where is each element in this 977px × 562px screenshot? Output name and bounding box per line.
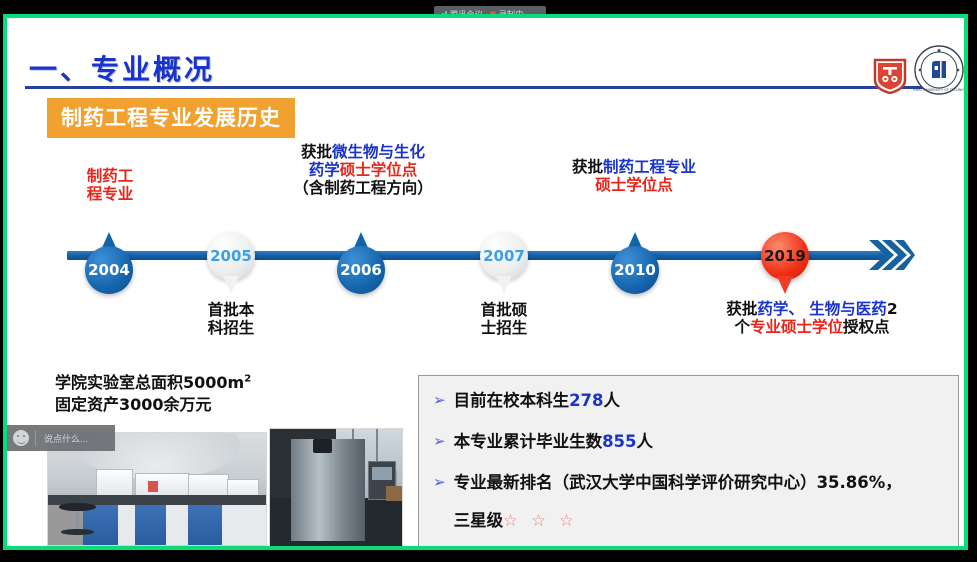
stat-1-value: 855 (602, 432, 636, 451)
stat-2-rating-label: 三星级 (454, 511, 504, 530)
title-divider (25, 86, 935, 89)
stat-row: ➢ 本专业累计毕业生数855人 (419, 430, 958, 455)
timeline-event-2019-d: 个 (734, 318, 750, 336)
timeline-pin-2005[interactable]: 2005 (207, 232, 255, 294)
timeline-event-2006: 获批微生物与生化 药学硕士学位点 （含制药工程方向） (257, 144, 469, 198)
lab-assets-text: 固定资产3000余万元 (55, 394, 251, 416)
timeline-pin-2019[interactable]: 2019 (761, 232, 809, 294)
timeline-event-2007: 首批硕 士招生 (448, 301, 560, 338)
timeline-event-2010-b: 制药工程专业 (603, 158, 696, 176)
timeline-event-2005-line2: 科招生 (175, 319, 287, 337)
stat-1-label: 本专业累计毕业生数 (454, 432, 603, 451)
timeline-event-2004: 制药工 程专业 (62, 168, 158, 204)
stat-row: ➢ 目前在校本科生278人 (419, 389, 958, 414)
timeline-pin-2004-label: 2004 (85, 246, 133, 294)
timeline-pin-2007[interactable]: 2007 (480, 232, 528, 294)
timeline-event-2019-a: 获批 (726, 300, 757, 318)
chat-placeholder-text[interactable]: 说点什么... (36, 432, 88, 445)
bullet-arrow-icon: ➢ (433, 389, 446, 408)
timeline-event-2005: 首批本 科招生 (175, 301, 287, 338)
presentation-slide: 一、专业概况 制药工程专业发展历史 (7, 18, 964, 546)
timeline-event-2019-f: 授权点 (843, 318, 890, 336)
timeline-pin-2006-label: 2006 (337, 246, 385, 294)
meeting-screen: 腾讯会议 录制中 正在讲话: 赵小亮-兰州理工大学; 一、专业概况 制药工程专业… (0, 0, 977, 562)
timeline-event-2004-line1: 制药工 (62, 168, 158, 186)
stat-1-unit: 人 (637, 432, 654, 451)
timeline-pin-2007-label: 2007 (480, 232, 528, 280)
lab-area-text: 学院实验室总面积5000m (55, 373, 244, 392)
timeline-pin-2006[interactable]: 2006 (337, 232, 385, 294)
timeline-pin-2010-label: 2010 (611, 246, 659, 294)
timeline-event-2006-a: 获批 (301, 143, 332, 161)
timeline-event-2019: 获批药学、 生物与医药2 个专业硕士学位授权点 (662, 301, 962, 337)
svg-text:LANZHOU UNIVERSITY OF TECHNOLO: LANZHOU UNIVERSITY OF TECHNOLOGY (913, 88, 964, 92)
timeline-event-2019-c: 2 (887, 300, 898, 318)
timeline-event-2019-b: 药学、 生物与医药 (757, 300, 886, 318)
stat-0-label: 目前在校本科生 (454, 391, 570, 410)
timeline-event-2006-b: 微生物与生化 (332, 143, 425, 161)
screen-share-frame: 一、专业概况 制药工程专业发展历史 (3, 14, 968, 550)
timeline-arrow-icon (869, 234, 915, 276)
timeline-event-2006-e: （含制药工程方向） (257, 180, 469, 198)
university-seal-logo: LANZHOU UNIVERSITY OF TECHNOLOGY (913, 44, 964, 96)
timeline-event-2010-c: 硕士学位点 (525, 177, 743, 195)
timeline-event-2010: 获批制药工程专业 硕士学位点 (525, 159, 743, 195)
stat-row: ➢ 专业最新排名（武汉大学中国科学评价研究中心）35.86%， 三星级☆ ☆ ☆ (419, 471, 958, 535)
timeline-event-2005-line1: 首批本 (175, 301, 287, 319)
stat-0-value: 278 (569, 391, 603, 410)
stats-panel: ➢ 目前在校本科生278人 ➢ 本专业累计毕业生数855人 ➢ 专业最新排名（武… (418, 375, 959, 546)
stat-0-unit: 人 (604, 391, 621, 410)
timeline-event-2019-e: 专业硕士学位 (750, 318, 843, 336)
bullet-arrow-icon: ➢ (433, 430, 446, 449)
stat-2-stars: ☆ ☆ ☆ (503, 511, 578, 530)
smiley-icon[interactable] (13, 430, 29, 446)
bullet-arrow-icon: ➢ (433, 471, 446, 490)
slide-subtitle: 制药工程专业发展历史 (47, 98, 295, 138)
timeline-pin-2004[interactable]: 2004 (85, 232, 133, 294)
timeline-pin-2005-label: 2005 (207, 232, 255, 280)
fermenter-equipment-photo (269, 428, 403, 546)
timeline-pin-2019-label: 2019 (761, 232, 809, 280)
timeline-event-2006-c: 药学 (309, 161, 340, 179)
page-title: 一、专业概况 (29, 48, 215, 88)
lab-facts: 学院实验室总面积5000m2 固定资产3000余万元 (55, 372, 251, 415)
timeline-event-2010-a: 获批 (572, 158, 603, 176)
timeline-pin-2010[interactable]: 2010 (611, 232, 659, 294)
lab-area-superscript: 2 (244, 374, 251, 385)
timeline-event-2007-line1: 首批硕 (448, 301, 560, 319)
timeline-event-2006-d: 硕士学位点 (340, 161, 418, 179)
timeline-event-2007-line2: 士招生 (448, 319, 560, 337)
chat-input-bar[interactable]: 说点什么... (7, 425, 115, 451)
stat-2-label: 专业最新排名（武汉大学中国科学评价研究中心）35.86%， (454, 473, 902, 492)
timeline-event-2004-line2: 程专业 (62, 186, 158, 204)
university-shield-logo (873, 58, 907, 94)
